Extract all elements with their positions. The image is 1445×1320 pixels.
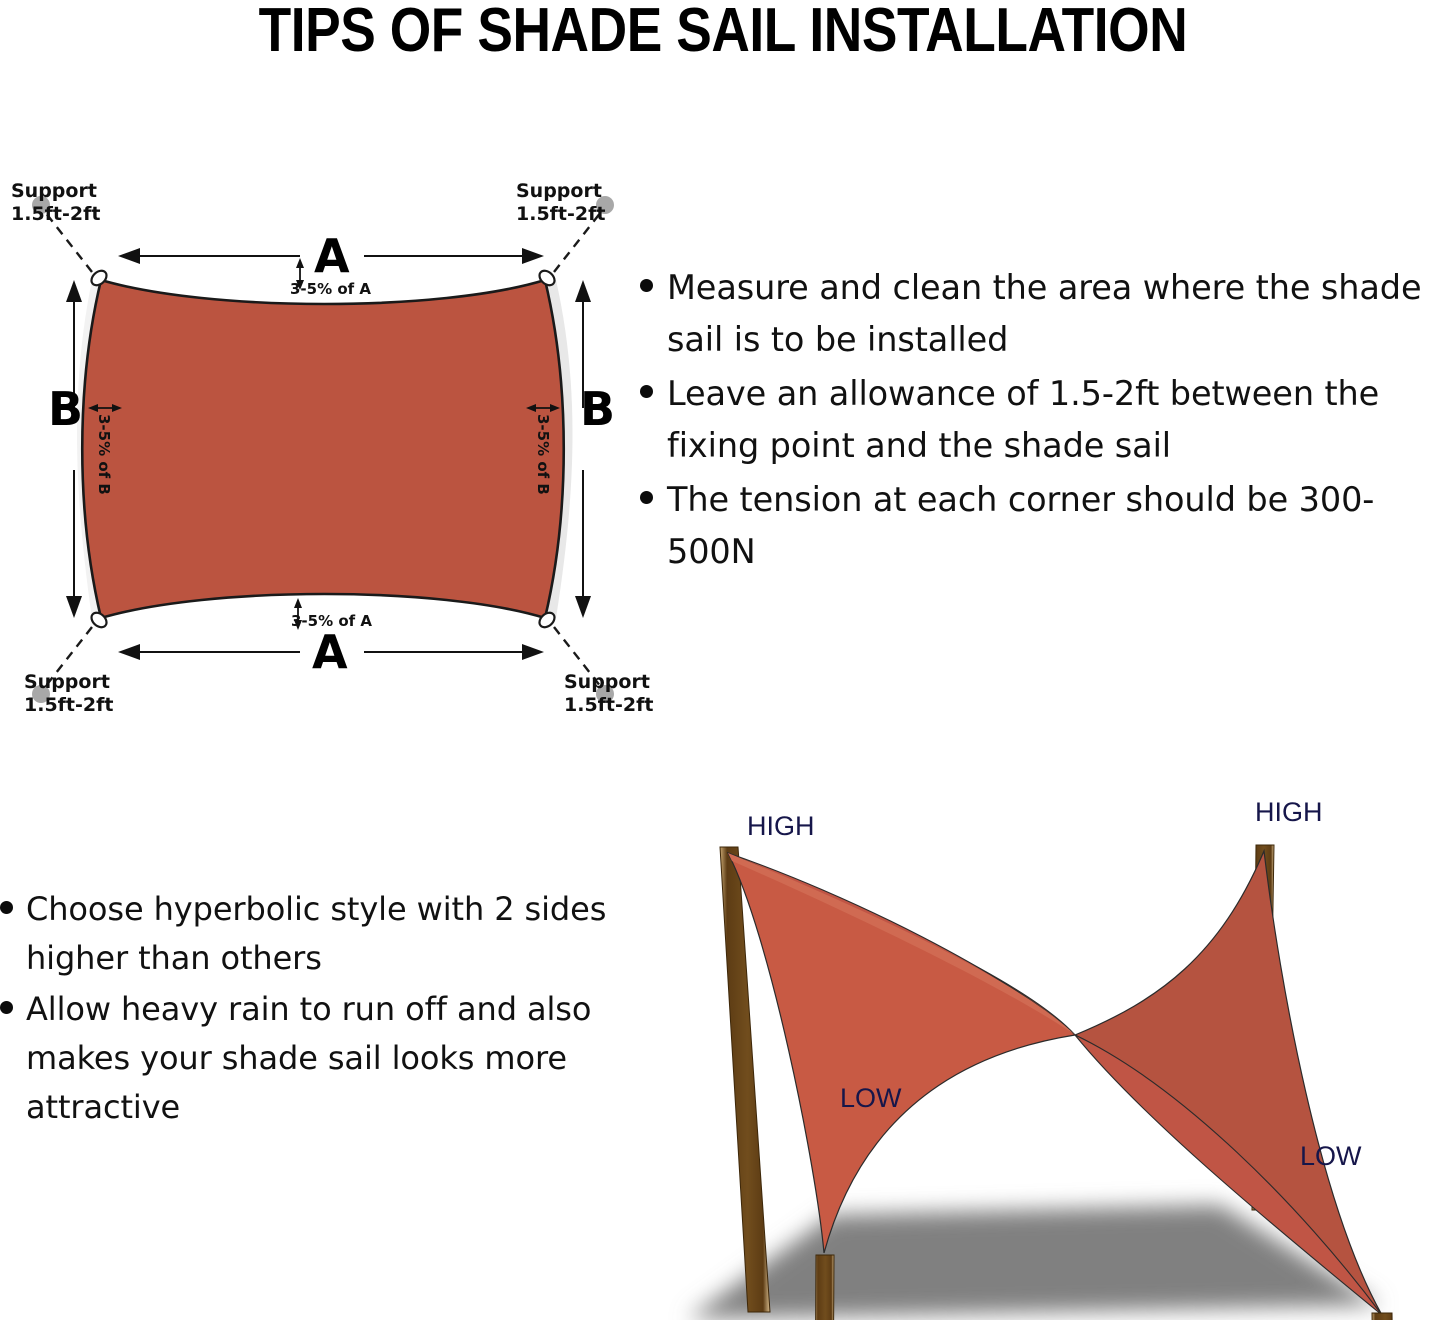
arrowhead-bottom-right: [522, 644, 544, 660]
hyper-sail-svg: [620, 785, 1445, 1320]
tip-text-3: The tension at each corner should be 300…: [667, 474, 1445, 578]
hyper-bullets: Choose hyperbolic style with 2 sides hig…: [0, 885, 620, 1132]
support-label-top-left-line1: Support: [11, 180, 100, 203]
installation-tips-list: Measure and clean the area where the sha…: [640, 262, 1445, 662]
dimension-label-left-b: B: [48, 386, 83, 432]
support-label-top-left: Support 1.5ft-2ft: [11, 180, 100, 226]
page-title: TIPS OF SHADE SAIL INSTALLATION: [258, 0, 1187, 62]
support-label-top-right-line1: Support: [516, 180, 605, 203]
support-label-top-left-line2: 1.5ft-2ft: [11, 203, 100, 226]
support-label-bottom-left-line1: Support: [24, 671, 113, 694]
support-label-bottom-left-line2: 1.5ft-2ft: [24, 694, 113, 717]
arrowhead-left-bottom: [66, 596, 82, 618]
dimension-label-bottom-a: A: [312, 629, 348, 675]
bullet-dot-icon: [640, 385, 653, 398]
tip-text-2: Leave an allowance of 1.5-2ft between th…: [667, 368, 1445, 472]
support-label-bottom-left: Support 1.5ft-2ft: [24, 671, 113, 717]
label-high-back-left: HIGH: [747, 813, 815, 840]
tolerance-label-right: 3-5% of B: [534, 414, 551, 495]
tolerance-label-bottom: 3-5% of A: [291, 613, 372, 630]
hyperbolic-sail-illustration: HIGH HIGH LOW LOW: [620, 785, 1445, 1320]
dimension-label-top-a: A: [314, 233, 350, 279]
pole-front-right-low: [1372, 1313, 1396, 1320]
tolerance-label-left: 3-5% of B: [95, 414, 112, 495]
arrowhead-top-left: [118, 248, 140, 264]
sail-panel-left: [728, 853, 1075, 1253]
list-item: Measure and clean the area where the sha…: [640, 262, 1445, 366]
label-low-front-left: LOW: [840, 1085, 902, 1112]
tolerance-arrowhead-top-up: [296, 258, 304, 268]
support-label-bottom-right-line2: 1.5ft-2ft: [564, 694, 653, 717]
hyperbolic-tips-list: Choose hyperbolic style with 2 sides hig…: [0, 885, 620, 1225]
label-high-back-right: HIGH: [1255, 799, 1323, 826]
tips-bullets: Measure and clean the area where the sha…: [640, 262, 1445, 578]
list-item: Leave an allowance of 1.5-2ft between th…: [640, 368, 1445, 472]
arrowhead-right-top: [575, 280, 591, 302]
support-label-bottom-right: Support 1.5ft-2ft: [564, 671, 653, 717]
tolerance-arrowhead-bottom-up: [294, 598, 302, 608]
support-label-bottom-right-line1: Support: [564, 671, 653, 694]
dimension-label-right-b: B: [580, 386, 615, 432]
list-item: The tension at each corner should be 300…: [640, 474, 1445, 578]
shade-sail-shape: [82, 280, 564, 618]
list-item: Allow heavy rain to run off and also mak…: [0, 985, 620, 1132]
arrowhead-left-top: [66, 280, 82, 302]
arrowhead-bottom-left: [118, 644, 140, 660]
pole-front-left-low: [815, 1255, 834, 1320]
tip-text-1: Measure and clean the area where the sha…: [667, 262, 1445, 366]
bullet-dot-icon: [0, 901, 13, 914]
support-label-top-right: Support 1.5ft-2ft: [516, 180, 605, 226]
tolerance-label-top: 3-5% of A: [290, 281, 371, 298]
title-bar: TIPS OF SHADE SAIL INSTALLATION: [0, 0, 1445, 62]
arrowhead-top-right: [522, 248, 544, 264]
rectangular-sail-diagram: A A B B 3-5% of A 3-5% of A 3-5% of B 3-…: [0, 150, 660, 750]
label-low-front-right: LOW: [1300, 1143, 1362, 1170]
arrowhead-right-bottom: [575, 596, 591, 618]
list-item: Choose hyperbolic style with 2 sides hig…: [0, 885, 620, 983]
hyper-tip-text-1: Choose hyperbolic style with 2 sides hig…: [26, 885, 620, 983]
hyper-tip-text-2: Allow heavy rain to run off and also mak…: [26, 985, 620, 1132]
bullet-dot-icon: [0, 1001, 13, 1014]
bullet-dot-icon: [640, 491, 653, 504]
support-label-top-right-line2: 1.5ft-2ft: [516, 203, 605, 226]
bullet-dot-icon: [640, 279, 653, 292]
